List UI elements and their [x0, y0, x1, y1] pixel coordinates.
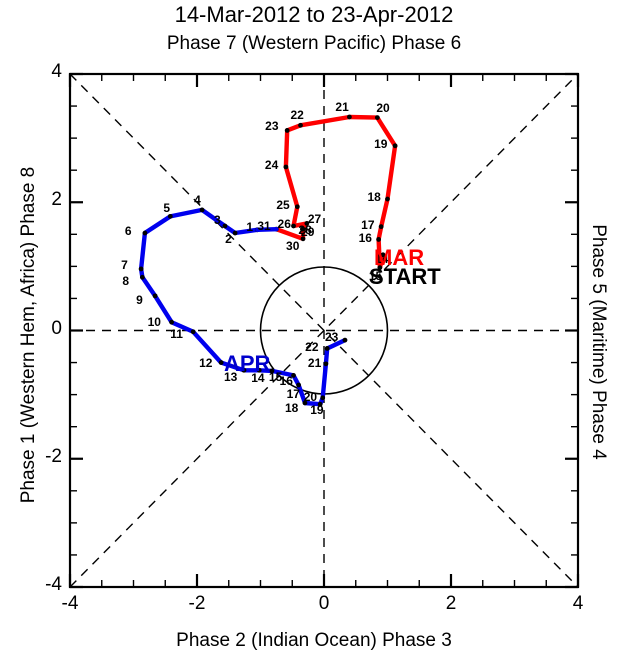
- data-point-apr-23: [343, 338, 348, 343]
- x-tick-label: -4: [62, 593, 79, 615]
- data-point-apr-11: [191, 329, 196, 334]
- mjo-phase-diagram: 14-Mar-2012 to 23-Apr-2012 Phase 7 (West…: [0, 0, 628, 656]
- day-label-mar-23: 23: [265, 120, 278, 132]
- day-label-apr-9: 9: [136, 294, 143, 306]
- day-label-mar-19: 19: [374, 138, 387, 150]
- day-label-mar-21: 21: [335, 101, 348, 113]
- data-point-apr-2: [233, 231, 238, 236]
- day-label-mar-25: 25: [276, 199, 289, 211]
- x-tick-label: 4: [573, 593, 584, 615]
- day-label-apr-3: 3: [214, 214, 221, 226]
- day-label-mar-22: 22: [291, 109, 304, 121]
- data-point-apr-3: [223, 224, 228, 229]
- data-point-apr-4: [200, 208, 205, 213]
- start-label: START: [369, 266, 441, 288]
- day-label-apr-22: 22: [305, 341, 318, 353]
- day-label-apr-6: 6: [125, 225, 132, 237]
- data-point-mar-25: [295, 204, 300, 209]
- day-label-mar-30: 30: [286, 240, 299, 252]
- data-point-apr-12: [219, 360, 224, 365]
- data-point-mar-21: [347, 115, 352, 120]
- day-label-apr-10: 10: [148, 316, 161, 328]
- x-tick-label: 0: [319, 593, 330, 615]
- y-tick-label: -2: [45, 446, 62, 468]
- day-label-apr-1: 1: [246, 221, 253, 233]
- day-label-mar-17: 17: [361, 219, 374, 231]
- data-point-apr-10: [169, 320, 174, 325]
- data-point-apr-9: [153, 293, 158, 298]
- day-label-mar-31: 31: [257, 220, 270, 232]
- data-point-apr-20: [320, 395, 325, 400]
- y-tick-label: -4: [45, 574, 62, 596]
- day-label-mar-18: 18: [368, 191, 381, 203]
- data-point-apr-7: [139, 267, 144, 272]
- data-point-mar-19: [393, 143, 398, 148]
- day-label-apr-18: 18: [285, 402, 298, 414]
- data-point-mar-20: [375, 115, 380, 120]
- day-label-mar-16: 16: [359, 232, 372, 244]
- data-point-apr-8: [140, 275, 145, 280]
- day-label-apr-21: 21: [308, 357, 321, 369]
- y-tick-label: 2: [51, 189, 62, 211]
- y-tick-label: 4: [51, 61, 62, 83]
- day-label-mar-26: 26: [278, 218, 291, 230]
- x-tick-label: 2: [446, 593, 457, 615]
- data-point-apr-21: [324, 361, 329, 366]
- day-label-apr-11: 11: [170, 328, 183, 340]
- day-label-apr-5: 5: [163, 202, 170, 214]
- day-label-apr-4: 4: [194, 194, 201, 206]
- apr-month-label: APR: [224, 353, 270, 375]
- day-label-apr-16: 16: [280, 375, 293, 387]
- day-label-apr-12: 12: [199, 357, 212, 369]
- data-point-mar-18: [385, 197, 390, 202]
- data-point-mar-17: [379, 224, 384, 229]
- x-tick-label: -2: [189, 593, 206, 615]
- day-label-apr-23: 23: [325, 331, 338, 343]
- data-point-mar-24: [284, 165, 289, 170]
- day-label-apr-8: 8: [122, 275, 129, 287]
- day-label-mar-29: 29: [301, 226, 314, 238]
- data-point-mar-26: [291, 224, 296, 229]
- day-label-mar-20: 20: [376, 102, 389, 114]
- y-tick-label: 0: [51, 318, 62, 340]
- day-label-mar-24: 24: [265, 159, 278, 171]
- phase-space-plot: [0, 0, 628, 656]
- day-label-apr-7: 7: [121, 259, 128, 271]
- day-label-apr-2: 2: [225, 233, 232, 245]
- data-point-mar-23: [285, 128, 290, 133]
- data-point-apr-6: [143, 231, 148, 236]
- day-label-apr-17: 17: [287, 388, 300, 400]
- day-label-apr-19: 19: [310, 404, 323, 416]
- day-label-apr-20: 20: [304, 391, 317, 403]
- data-point-apr-22: [325, 346, 330, 351]
- data-point-mar-22: [298, 123, 303, 128]
- data-point-mar-16: [376, 237, 381, 242]
